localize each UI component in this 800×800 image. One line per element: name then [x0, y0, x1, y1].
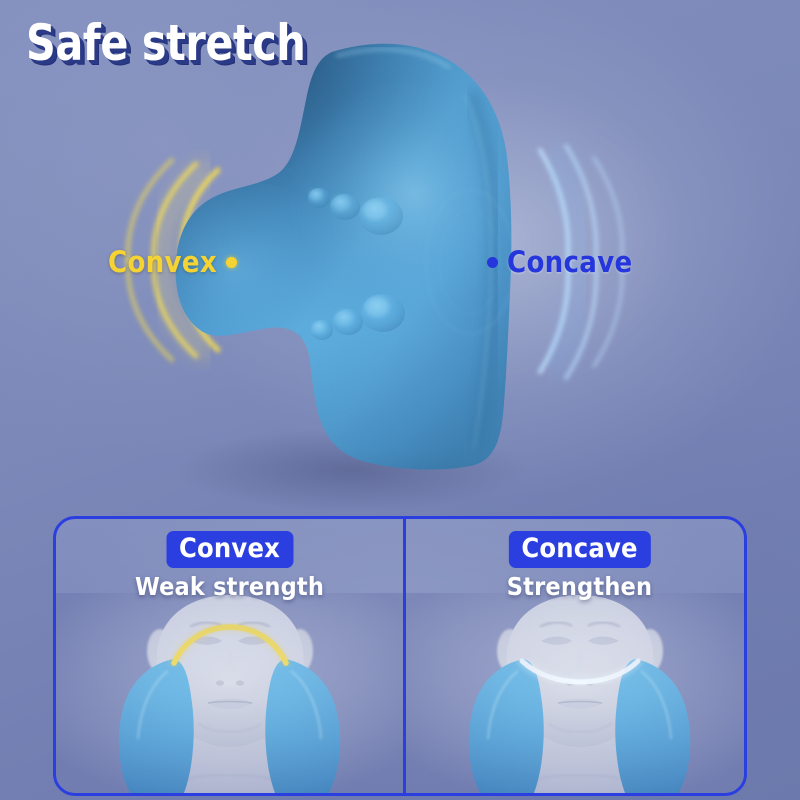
callout-convex: Convex [108, 248, 237, 277]
caption-convex: Weak strength [135, 572, 324, 601]
comparison-card-convex: Convex Weak strength [56, 519, 403, 793]
product-infographic: Safe stretch Convex Concave [0, 0, 800, 800]
comparison-panel: Convex Weak strength [53, 516, 747, 796]
callout-convex-label: Convex [108, 248, 217, 277]
callout-concave-label: Concave [507, 248, 633, 277]
page-title: Safe stretch [26, 18, 305, 68]
callout-concave-dot [487, 257, 498, 268]
badge-convex: Convex [166, 531, 293, 568]
badge-concave: Concave [508, 531, 650, 568]
illustration-convex [56, 593, 403, 793]
callout-convex-dot [226, 257, 237, 268]
caption-concave: Strengthen [507, 572, 652, 601]
illustration-concave [406, 593, 747, 793]
callout-concave: Concave [487, 248, 633, 277]
comparison-card-concave: Concave Strengthen [406, 519, 747, 793]
